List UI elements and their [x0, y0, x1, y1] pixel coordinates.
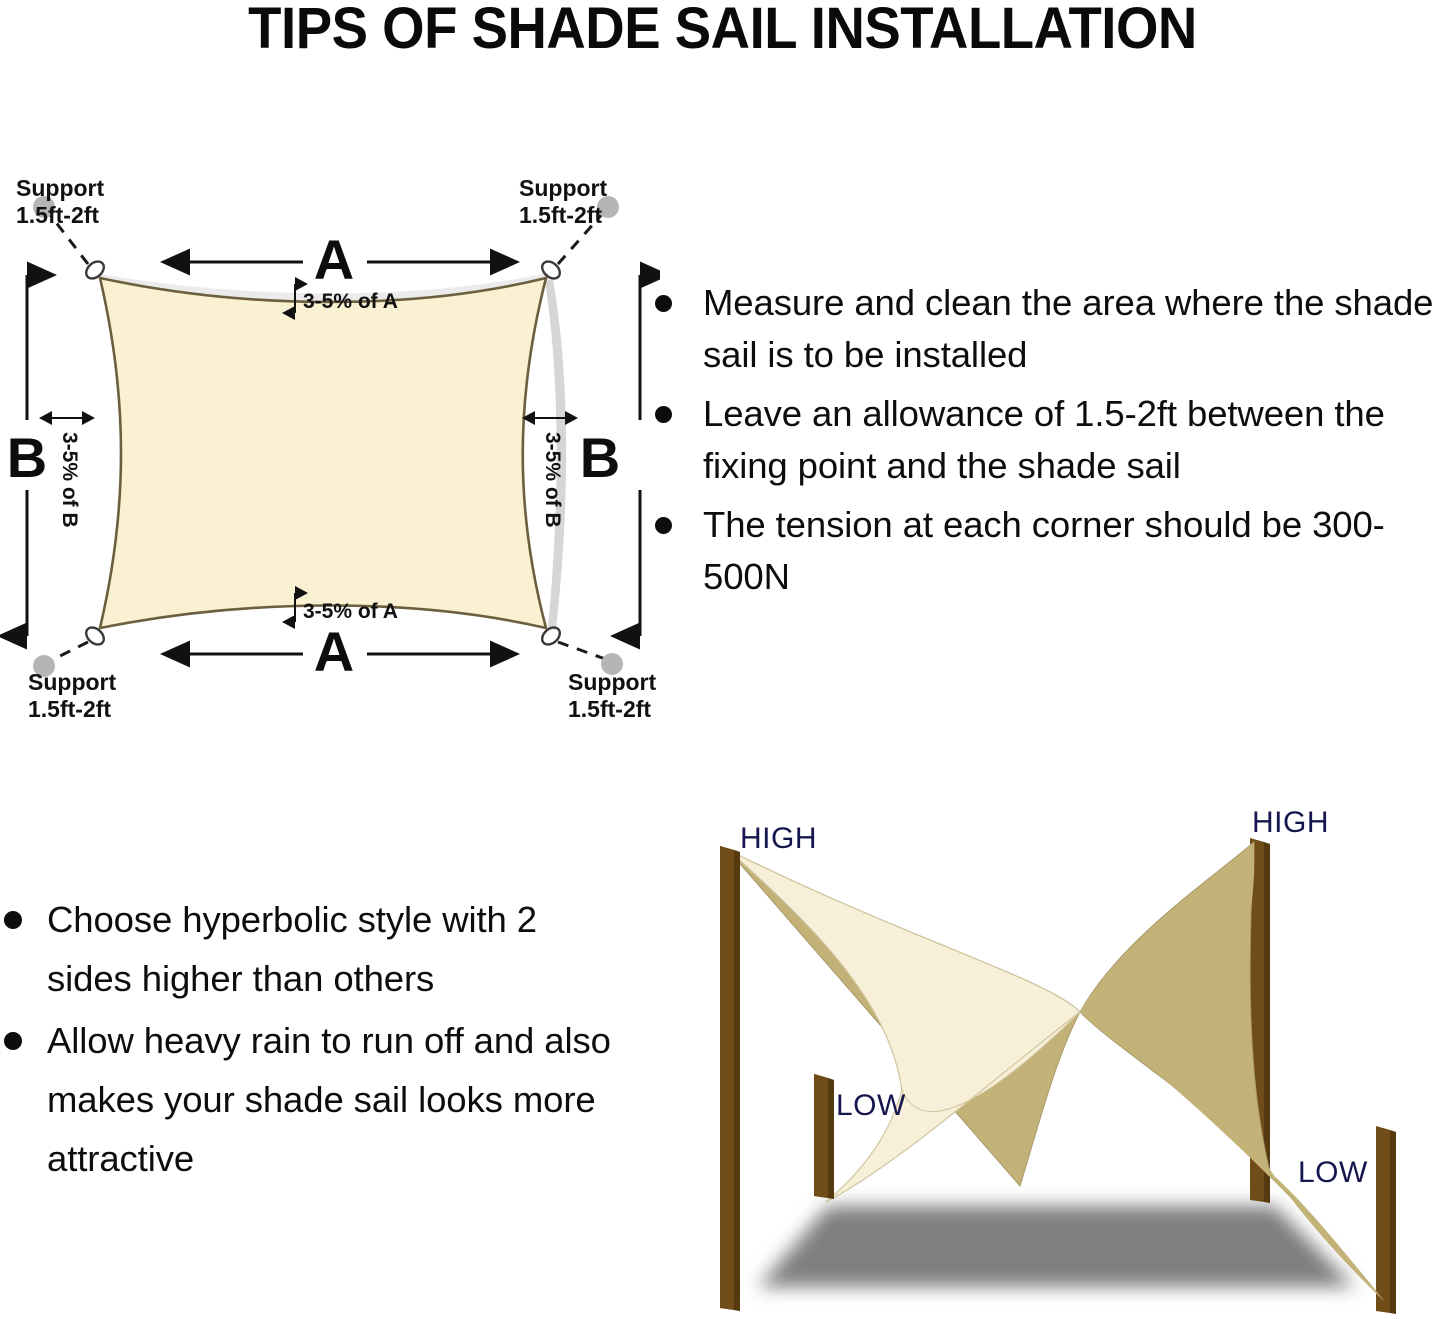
infographic-page: TIPS OF SHADE SAIL INSTALLATION — [0, 0, 1445, 1319]
label-high-right: HIGH — [1252, 806, 1329, 839]
support-label-bottom-right-line1: Support — [568, 669, 656, 695]
sag-label-right: 3-5% of B — [541, 432, 564, 528]
bullet-dot-icon — [655, 517, 672, 534]
dimension-letter-a-bottom: A — [314, 620, 354, 683]
support-label-top-right-line1: Support — [519, 175, 607, 201]
bullet-dot-icon — [655, 295, 672, 312]
list-item-label: Allow heavy rain to run off and also mak… — [47, 1020, 611, 1179]
rectangular-sail-diagram: Support 1.5ft-2ft Support 1.5ft-2ft Supp… — [0, 150, 660, 750]
post-low-right — [1376, 1126, 1396, 1314]
list-item-label: The tension at each corner should be 300… — [703, 504, 1385, 597]
list-item: Leave an allowance of 1.5-2ft between th… — [655, 388, 1445, 492]
support-label-bottom-left-line2: 1.5ft-2ft — [28, 696, 111, 722]
hyperbolic-sail-illustration: HIGH HIGH LOW LOW — [650, 790, 1445, 1319]
sag-label-top: 3-5% of A — [303, 290, 398, 313]
page-title: TIPS OF SHADE SAIL INSTALLATION — [43, 0, 1401, 62]
support-label-bottom-left-line1: Support — [28, 669, 116, 695]
ground-shadow — [758, 1206, 1355, 1287]
list-item-label: Choose hyperbolic style with 2 sides hig… — [47, 899, 537, 999]
dimension-letter-b-right: B — [580, 426, 620, 489]
list-item: Measure and clean the area where the sha… — [655, 277, 1445, 381]
list-item: Choose hyperbolic style with 2 sides hig… — [4, 890, 624, 1008]
installation-tips-list-right: Measure and clean the area where the sha… — [655, 277, 1445, 610]
support-label-top-left-line2: 1.5ft-2ft — [16, 202, 99, 228]
dimension-letter-a-top: A — [314, 228, 354, 291]
label-low-left: LOW — [836, 1089, 906, 1122]
dimension-letter-b-left: B — [7, 426, 47, 489]
support-label-bottom-right-line2: 1.5ft-2ft — [568, 696, 651, 722]
label-high-left: HIGH — [740, 822, 817, 855]
shade-sail-shape — [100, 278, 546, 628]
installation-tips-list-left: Choose hyperbolic style with 2 sides hig… — [4, 890, 624, 1191]
bullet-dot-icon — [655, 406, 672, 423]
bullet-dot-icon — [4, 1032, 22, 1050]
list-item: The tension at each corner should be 300… — [655, 499, 1445, 603]
sag-label-bottom: 3-5% of A — [303, 600, 398, 623]
list-item-label: Measure and clean the area where the sha… — [703, 282, 1433, 375]
sag-label-left: 3-5% of B — [58, 432, 81, 528]
support-label-top-left-line1: Support — [16, 175, 104, 201]
support-label-top-right-line2: 1.5ft-2ft — [519, 202, 602, 228]
list-item: Allow heavy rain to run off and also mak… — [4, 1011, 624, 1188]
bullet-dot-icon — [4, 911, 22, 929]
label-low-right: LOW — [1298, 1156, 1368, 1189]
post-low-left-front — [814, 1074, 834, 1199]
post-high-left-front — [720, 846, 740, 1311]
list-item-label: Leave an allowance of 1.5-2ft between th… — [703, 393, 1385, 486]
